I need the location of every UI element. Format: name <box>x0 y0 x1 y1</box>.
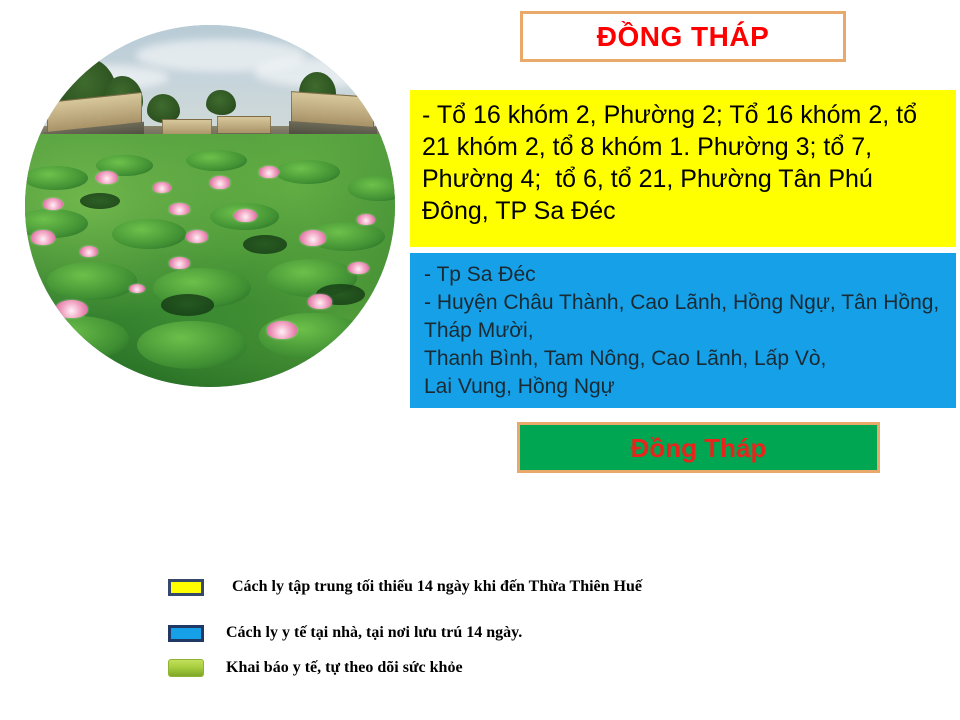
legend-item: Cách ly y tế tại nhà, tại nơi lưu trú 14… <box>168 624 522 642</box>
province-banner-label: Đồng Tháp <box>631 435 767 461</box>
page-title: ĐỒNG THÁP <box>597 23 770 51</box>
legend-item-label: Cách ly tập trung tối thiểu 14 ngày khi … <box>232 578 642 596</box>
legend-item-label: Khai báo y tế, tự theo dõi sức khỏe <box>226 659 463 677</box>
blue-zone-box: - Tp Sa Đéc - Huyện Châu Thành, Cao Lãnh… <box>410 253 956 408</box>
yellow-swatch-icon <box>168 579 204 596</box>
green-swatch-icon <box>168 659 204 677</box>
yellow-zone-box: - Tổ 16 khóm 2, Phường 2; Tổ 16 khóm 2, … <box>410 90 956 247</box>
legend-item: Khai báo y tế, tự theo dõi sức khỏe <box>168 659 463 677</box>
province-banner: Đồng Tháp <box>517 422 880 473</box>
province-photo <box>25 25 395 387</box>
thatched-hut <box>291 91 374 128</box>
yellow-zone-text: - Tổ 16 khóm 2, Phường 2; Tổ 16 khóm 2, … <box>422 99 946 227</box>
blue-swatch-icon <box>168 625 204 642</box>
thatched-hut <box>217 116 271 134</box>
legend-item: Cách ly tập trung tối thiểu 14 ngày khi … <box>168 578 642 596</box>
legend-item-label: Cách ly y tế tại nhà, tại nơi lưu trú 14… <box>226 624 522 642</box>
province-title-box: ĐỒNG THÁP <box>520 11 846 62</box>
lotus-field <box>25 134 395 387</box>
tree-shape <box>206 90 236 115</box>
blue-zone-text: - Tp Sa Đéc - Huyện Châu Thành, Cao Lãnh… <box>424 261 946 401</box>
